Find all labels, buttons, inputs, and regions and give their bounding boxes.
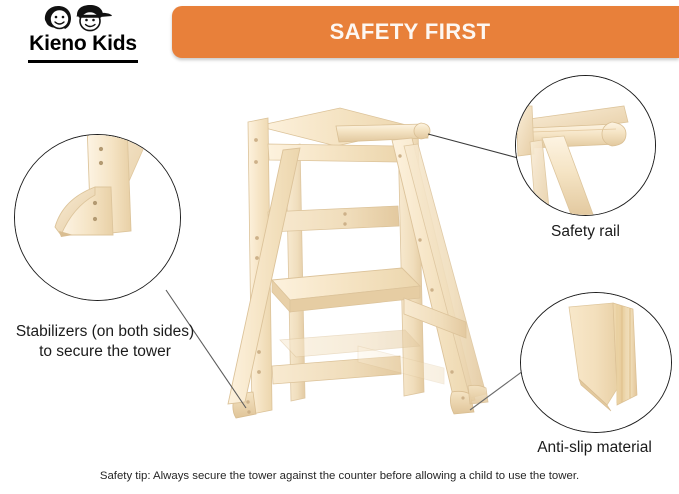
callout-antislip-label: Anti-slip material (510, 438, 679, 458)
page-title: SAFETY FIRST (172, 6, 648, 58)
safety-tip-text: Safety tip: Always secure the tower agai… (0, 470, 679, 482)
callout-antislip-circle (520, 292, 672, 433)
callout-stabilizer-label: Stabilizers (on both sides) to secure th… (0, 322, 210, 362)
leader-line-rail (428, 134, 518, 158)
brand-name: Kieno Kids (12, 32, 154, 56)
leader-line-antislip (470, 368, 527, 410)
anti-slip-foot-detail (521, 293, 672, 433)
callout-rail-circle (515, 75, 656, 216)
screw-holes-left-post (254, 138, 261, 374)
brand-logo: Kieno Kids (12, 4, 154, 66)
callout-stabilizer-circle (14, 134, 181, 301)
safety-rail-detail (516, 76, 656, 216)
stabilizer-foot-detail (15, 135, 181, 301)
two-kids-faces-icon (42, 4, 128, 34)
infographic-page: Kieno Kids SAFETY FIRST (0, 0, 679, 494)
tower-graphic (228, 108, 488, 418)
brand-underline (28, 60, 138, 63)
callout-rail-label: Safety rail (515, 222, 656, 242)
header-banner: SAFETY FIRST (172, 6, 679, 58)
